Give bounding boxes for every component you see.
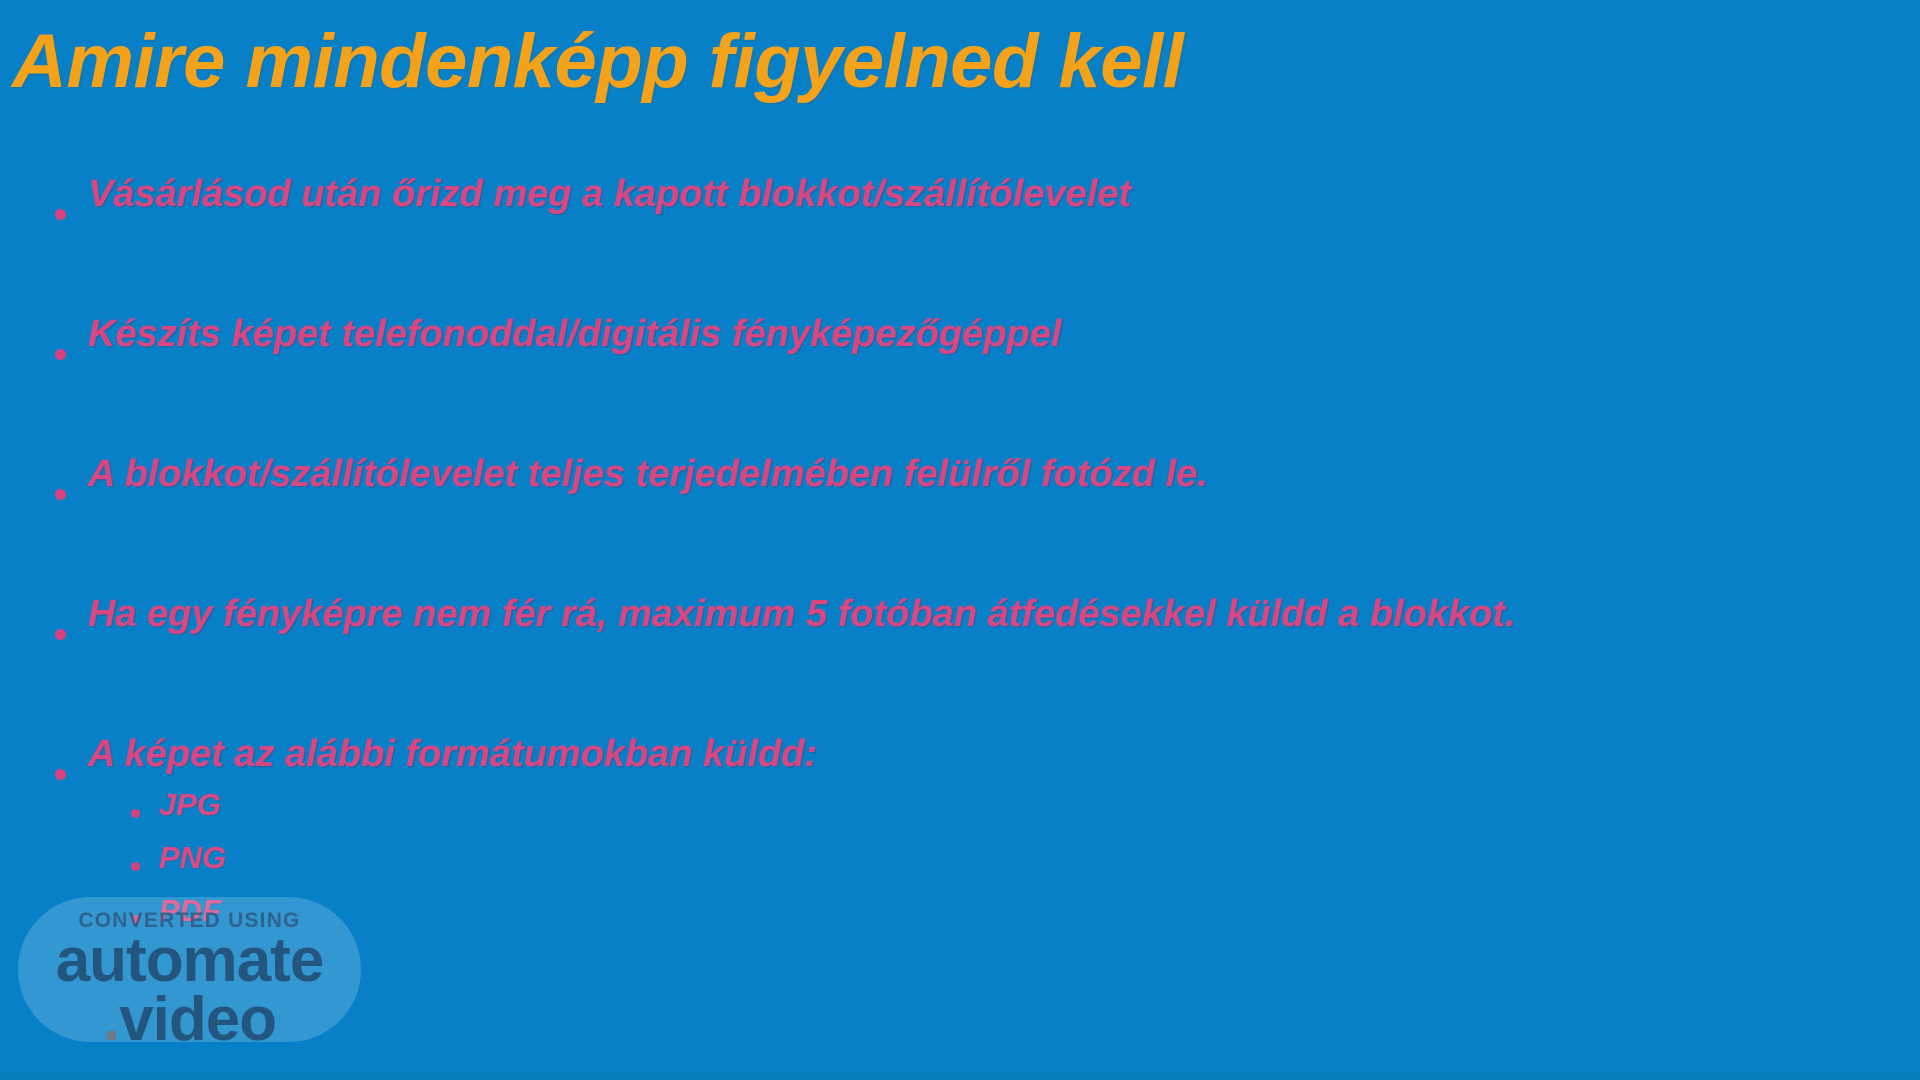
- sub-list-item-label: JPG: [159, 789, 221, 820]
- sub-list-item-label: PNG: [159, 842, 226, 873]
- list-item-label: A képet az alábbi formátumokban küldd:: [88, 735, 817, 773]
- list-item: Vásárlásod után őrizd meg a kapott blokk…: [0, 175, 1920, 315]
- watermark-brand-suffix-row: .video: [18, 989, 361, 1042]
- watermark-brand-suffix: video: [119, 985, 276, 1042]
- bottom-edge-strip: [0, 1071, 1920, 1080]
- list-item: Készíts képet telefonoddal/digitális fén…: [0, 315, 1920, 455]
- list-item: Ha egy fényképre nem fér rá, maximum 5 f…: [0, 595, 1920, 735]
- bullet-dot-icon: [55, 629, 66, 640]
- bullet-dot-icon: [131, 862, 140, 871]
- bullet-list: Vásárlásod után őrizd meg a kapott blokk…: [0, 175, 1920, 948]
- automate-video-watermark: CONVERTED USING automate .video: [18, 897, 361, 1042]
- bullet-dot-icon: [55, 769, 66, 780]
- bullet-dot-icon: [55, 209, 66, 220]
- bullet-dot-icon: [55, 349, 66, 360]
- list-item: A blokkot/szállítólevelet teljes terjede…: [0, 455, 1920, 595]
- watermark-brand-dot: .: [103, 985, 119, 1042]
- sub-list-item: PNG: [0, 842, 1920, 895]
- list-item-label: Vásárlásod után őrizd meg a kapott blokk…: [88, 175, 1131, 213]
- list-item-label: Készíts képet telefonoddal/digitális fén…: [88, 315, 1061, 353]
- bullet-dot-icon: [131, 809, 140, 818]
- watermark-brand-name: automate: [18, 930, 361, 992]
- slide-canvas: Amire mindenképp figyelned kell Vásárlás…: [0, 0, 1920, 1080]
- sub-list-item: JPG: [0, 789, 1920, 842]
- page-title: Amire mindenképp figyelned kell: [12, 18, 1183, 105]
- list-item: A képet az alábbi formátumokban küldd:: [0, 735, 1920, 789]
- list-item-label: Ha egy fényképre nem fér rá, maximum 5 f…: [88, 595, 1516, 633]
- list-item-label: A blokkot/szállítólevelet teljes terjede…: [88, 455, 1208, 493]
- bullet-dot-icon: [55, 489, 66, 500]
